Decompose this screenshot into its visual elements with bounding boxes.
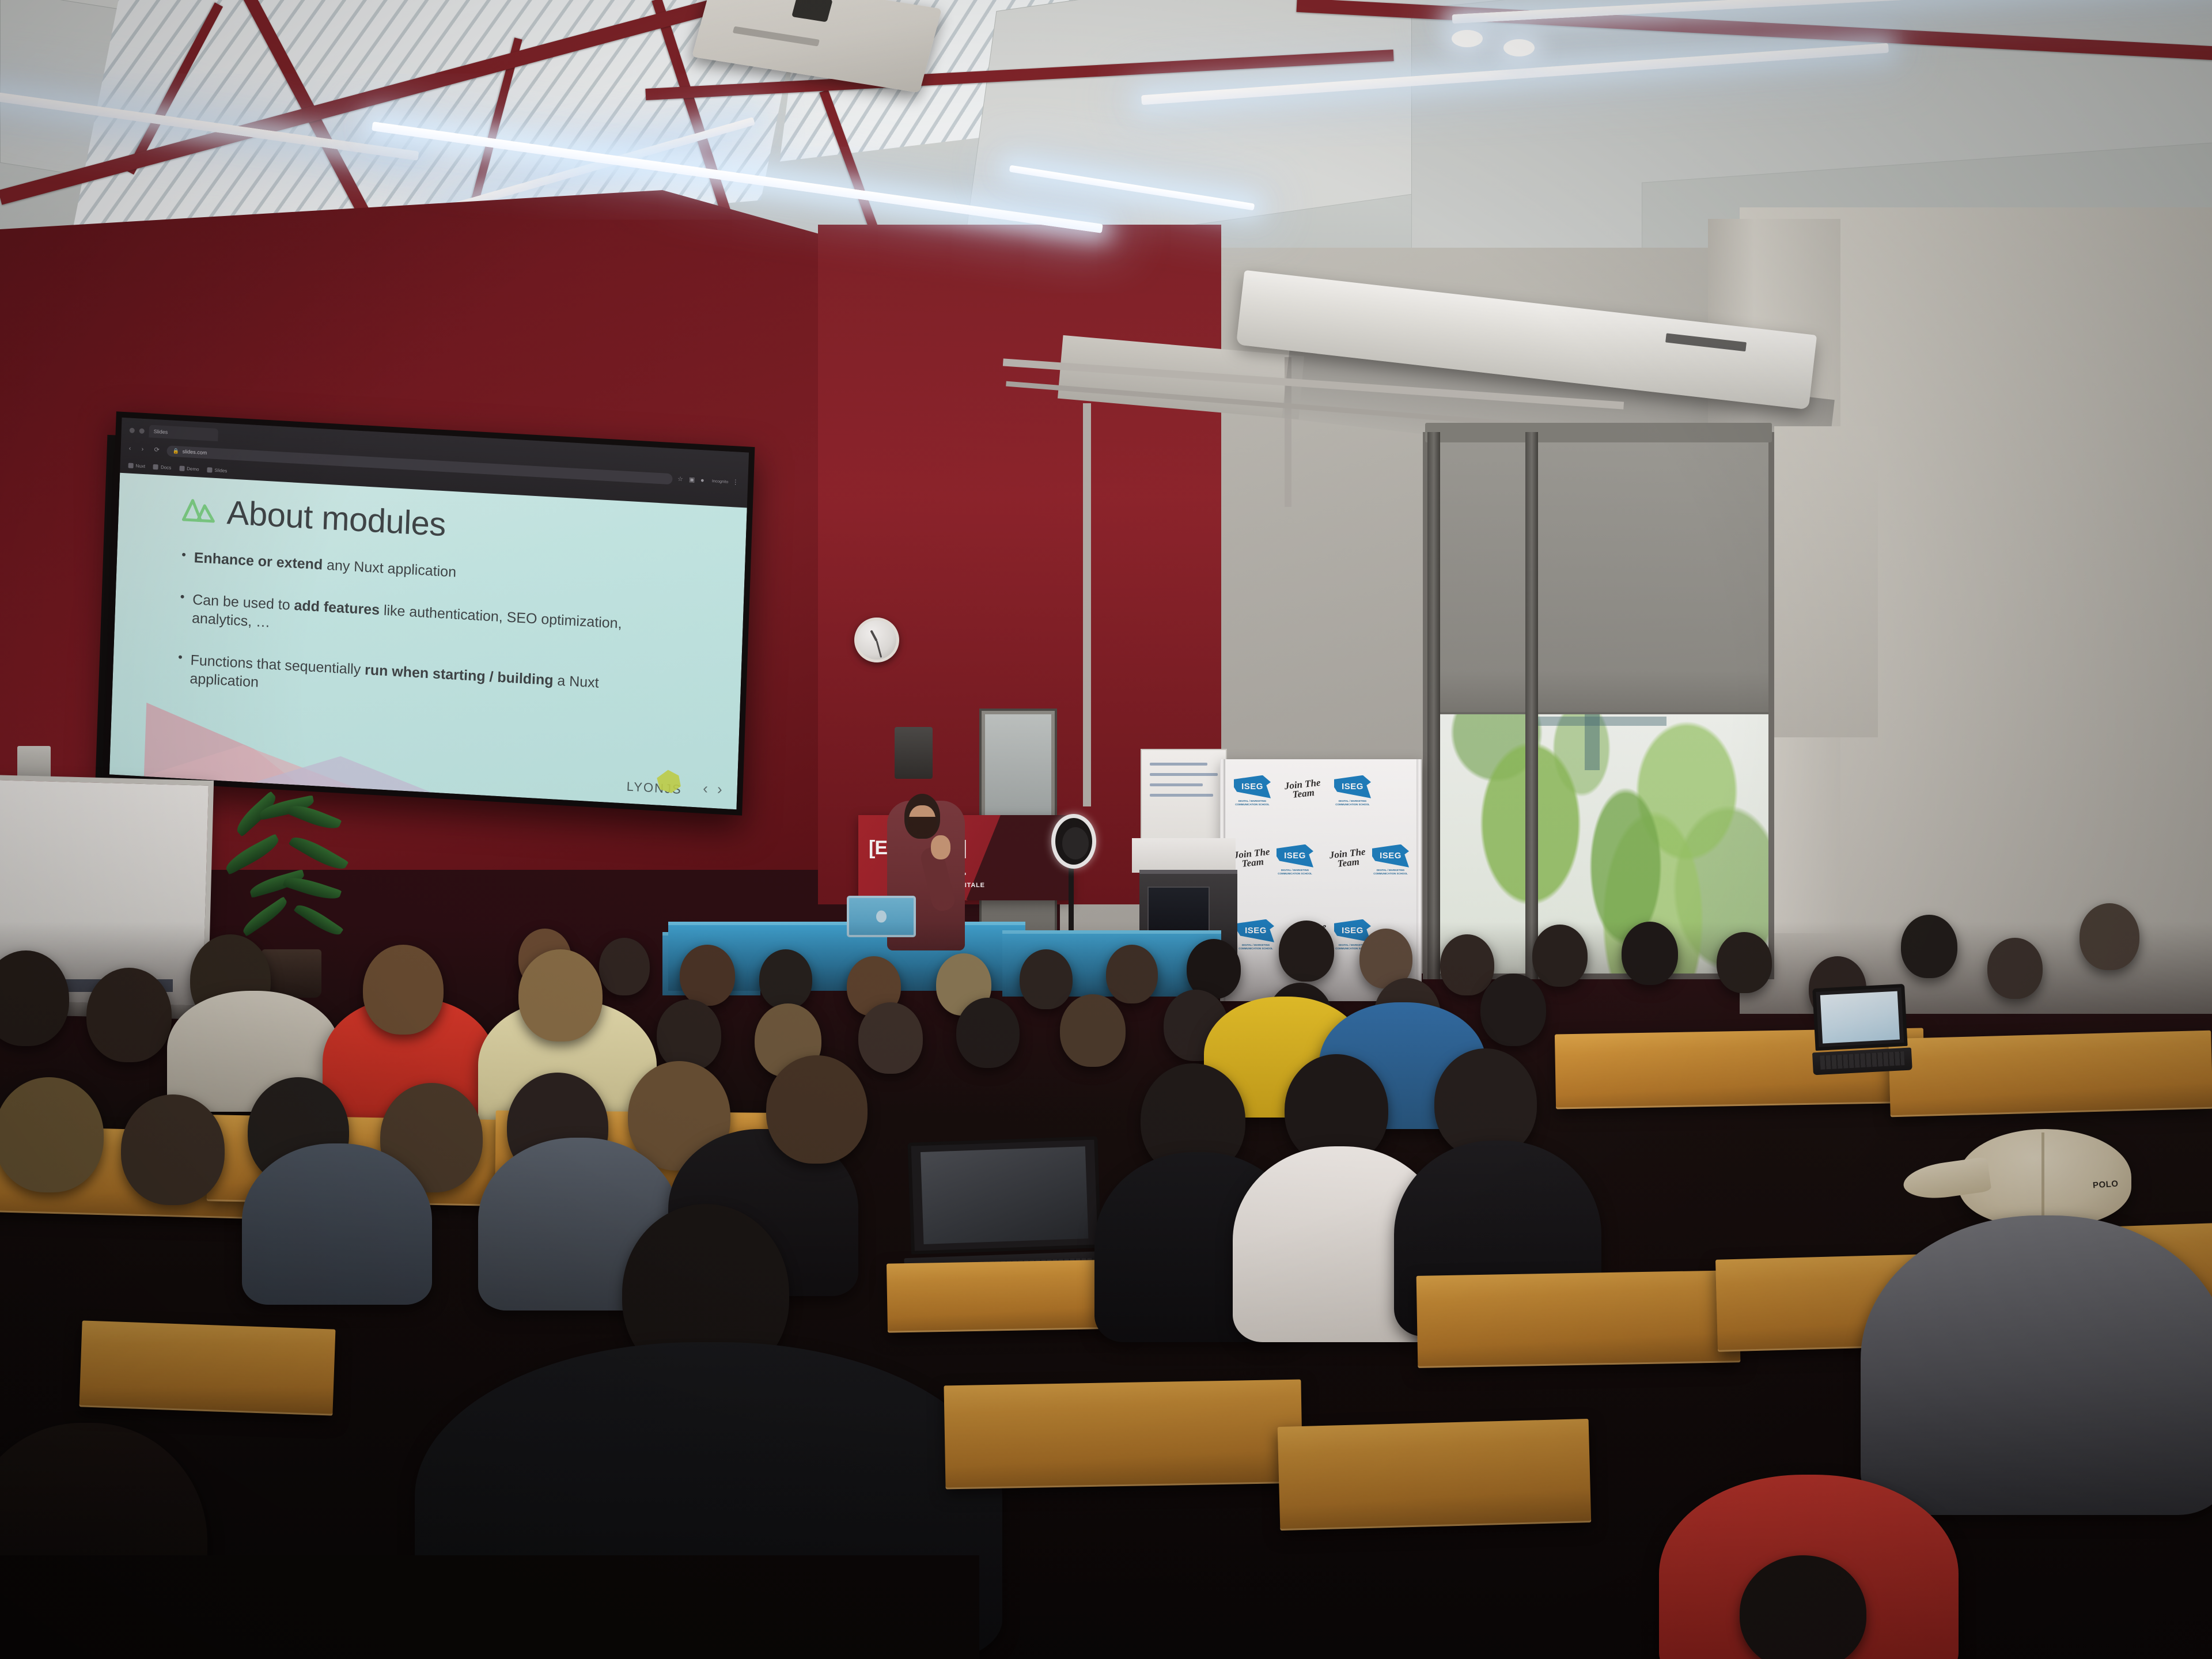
slide-bullet: • Can be used to add features like authe…	[179, 589, 698, 656]
floor-shadow	[0, 1555, 979, 1659]
browser-window: Slides ‹ › ⟳ 🔒 slides.com ☆ ▣ ● Incognit…	[109, 418, 749, 809]
audience-head	[1106, 945, 1158, 1003]
incognito-label: Incognito	[712, 479, 729, 484]
plant-leaf	[283, 873, 342, 904]
window	[1423, 432, 1774, 979]
bullet-text: Can be used to add features like authent…	[192, 590, 630, 652]
bench	[79, 1320, 336, 1415]
audience-head	[1901, 915, 1957, 978]
audience-head	[2080, 903, 2139, 970]
iseg-subtitle: DIGITAL / MARKETING COMMUNICATION SCHOOL	[1270, 869, 1320, 876]
back-arrow-icon[interactable]: ‹	[128, 445, 136, 453]
bullet-rest: any Nuxt application	[323, 557, 457, 581]
roller-blind[interactable]	[1429, 438, 1768, 714]
presenter-hand	[931, 835, 950, 859]
equipment-box	[1132, 838, 1236, 873]
bookmark-icon	[179, 465, 184, 471]
window-control-dot[interactable]	[130, 427, 135, 433]
iseg-brand: ISEG	[1380, 851, 1402, 861]
projection-screen: Slides ‹ › ⟳ 🔒 slides.com ☆ ▣ ● Incognit…	[104, 411, 755, 816]
slide-next-button[interactable]: ›	[717, 780, 722, 798]
audience-head	[858, 1002, 923, 1074]
iseg-subtitle: DIGITAL / MARKETING COMMUNICATION SCHOOL	[1365, 869, 1416, 876]
apple-logo-icon	[876, 911, 887, 923]
audience-head	[1020, 949, 1073, 1009]
bullet-bold: run when starting / building	[365, 661, 554, 688]
iseg-brand: ISEG	[1342, 782, 1363, 791]
audience-head	[363, 945, 444, 1035]
iseg-logo: ISEG DIGITAL / MARKETING COMMUNICATION S…	[1227, 772, 1278, 810]
profile-icon[interactable]: ●	[700, 476, 708, 484]
forward-arrow-icon[interactable]: ›	[141, 445, 149, 453]
wall-box	[17, 746, 51, 778]
laptop-screen	[1820, 991, 1899, 1043]
laptop-screen	[921, 1146, 1089, 1244]
iseg-slogan: Join The Team	[1282, 778, 1325, 801]
audience-head	[1987, 938, 2043, 999]
bullet-dot: •	[177, 650, 183, 687]
plant-leaf	[287, 801, 342, 834]
clock-hour-hand	[870, 630, 877, 642]
spot-light	[1452, 30, 1483, 47]
iseg-logo: ISEG DIGITAL / MARKETING COMMUNICATION S…	[1365, 841, 1416, 879]
projector-vent	[733, 26, 820, 46]
audience-head	[1480, 974, 1546, 1046]
audience-head	[1622, 922, 1678, 985]
iseg-logo: ISEG DIGITAL / MARKETING COMMUNICATION S…	[1327, 772, 1378, 810]
iseg-slogan: Join The Team	[1327, 847, 1370, 870]
audience-head	[657, 999, 721, 1071]
nuxt-logo	[180, 497, 218, 527]
baseball-cap: POLO	[1959, 1129, 2131, 1226]
slide-prev-button[interactable]: ‹	[703, 779, 709, 797]
audience-head	[1440, 934, 1494, 995]
wall-conduit	[1083, 403, 1091, 806]
star-icon[interactable]: ☆	[677, 475, 685, 483]
laptop-keyboard[interactable]	[1820, 1051, 1904, 1070]
audience-head	[759, 949, 812, 1009]
audience-head	[1717, 932, 1772, 993]
plant-leaf	[222, 834, 282, 875]
url-text: slides.com	[183, 449, 207, 456]
bench-front	[944, 1380, 1302, 1490]
clock-minute-hand	[876, 641, 882, 658]
window-mullion	[1427, 432, 1440, 979]
projector-lens	[791, 0, 833, 22]
wall-clock	[854, 618, 899, 662]
presenter-head	[904, 794, 940, 839]
slide-navigation: ‹ ›	[703, 779, 722, 798]
laptop-lid	[1812, 984, 1907, 1051]
bullet-text: Enhance or extend any Nuxt application	[194, 548, 456, 582]
audience-head	[518, 949, 603, 1041]
iseg-mark-icon: ISEG	[1372, 844, 1409, 868]
laptop-lid	[907, 1136, 1101, 1255]
bullet-bold: add features	[294, 597, 380, 618]
plant-leaf	[289, 831, 349, 875]
iseg-mark-icon: ISEG	[1334, 775, 1371, 798]
bookmark-item[interactable]: Slides	[207, 467, 227, 474]
puzzle-icon[interactable]: ▣	[689, 476, 696, 484]
kebab-menu-icon[interactable]: ⋮	[732, 479, 740, 487]
window-control-dot[interactable]	[139, 428, 145, 433]
audience-head	[0, 1077, 104, 1192]
cap-brand-label: POLO	[2093, 1179, 2119, 1190]
iseg-mark-icon: ISEG	[1234, 775, 1271, 798]
bookmark-label: Docs	[161, 464, 172, 470]
presentation-slide: About modules • Enhance or extend any Nu…	[109, 473, 747, 810]
bookmark-item[interactable]: Docs	[153, 464, 172, 470]
ring-light	[1051, 814, 1096, 869]
browser-tab[interactable]: Slides	[149, 425, 218, 441]
audience-laptop[interactable]	[1812, 984, 1909, 1075]
audience-person-front	[1861, 1215, 2212, 1515]
flipchart-line	[1150, 763, 1207, 766]
iseg-brand: ISEG	[1284, 851, 1306, 861]
bookmark-label: Slides	[214, 467, 227, 473]
flipchart	[1141, 749, 1227, 853]
reload-icon[interactable]: ⟳	[154, 446, 161, 454]
flipchart-line	[1150, 783, 1203, 786]
bench-front	[1278, 1419, 1592, 1531]
iseg-slogan: Join The Team	[1231, 847, 1274, 870]
audience-head	[86, 968, 172, 1062]
presenter-beard	[908, 817, 937, 838]
bookmark-icon	[207, 467, 212, 472]
ac-label	[1665, 333, 1747, 351]
audience-head	[1532, 925, 1588, 987]
bookmark-item[interactable]: Demo	[179, 465, 199, 472]
bookmark-label: Demo	[187, 466, 199, 472]
lyonjs-logo: LYONJS	[626, 779, 682, 797]
audience-head	[680, 945, 735, 1006]
bullet-bold: Enhance or extend	[194, 550, 323, 573]
iseg-subtitle: DIGITAL / MARKETING COMMUNICATION SCHOOL	[1327, 800, 1378, 807]
slide-bullet-list: • Enhance or extend any Nuxt application…	[112, 524, 745, 719]
bench	[1416, 1270, 1741, 1368]
lecture-hall-photo: Slides ‹ › ⟳ 🔒 slides.com ☆ ▣ ● Incognit…	[0, 0, 2212, 1659]
audience-person	[242, 1143, 432, 1305]
iseg-logo: ISEG DIGITAL / MARKETING COMMUNICATION S…	[1270, 841, 1320, 879]
audience-head	[121, 1094, 225, 1205]
audience-head	[956, 998, 1020, 1068]
audience-head	[1060, 994, 1126, 1067]
audience-head	[766, 1055, 868, 1164]
wall-panel	[1774, 426, 1878, 737]
bullet-lead: Can be used to	[192, 592, 294, 613]
audience-head	[599, 938, 650, 995]
slide-bullet: • Enhance or extend any Nuxt application	[181, 548, 700, 596]
bookmark-label: Nuxt	[135, 463, 145, 469]
audience-head	[1279, 921, 1334, 982]
iseg-brand: ISEG	[1241, 782, 1263, 791]
bench-desk	[887, 1259, 1130, 1332]
blind-housing	[1425, 423, 1772, 442]
flipchart-line	[1150, 773, 1218, 776]
iseg-subtitle: DIGITAL / MARKETING COMMUNICATION SCHOOL	[1227, 800, 1278, 807]
outdoor-structure	[1531, 717, 1666, 726]
iseg-mark-icon: ISEG	[1277, 844, 1313, 868]
bookmark-icon	[153, 464, 158, 469]
cap-seam	[2041, 1132, 2044, 1219]
bench-back	[1888, 1031, 2212, 1118]
window-mullion	[1525, 432, 1538, 979]
bookmark-icon	[128, 463, 134, 468]
bullet-dot: •	[181, 548, 187, 567]
bullet-dot: •	[179, 589, 185, 627]
lock-icon: 🔒	[172, 448, 179, 454]
flipchart-line	[1150, 794, 1213, 797]
spot-light	[1503, 39, 1535, 56]
ring-light-center	[1062, 827, 1089, 859]
wall-speaker	[895, 727, 933, 779]
bookmark-item[interactable]: Nuxt	[128, 463, 146, 469]
browser-toolbar-right: ☆ ▣ ● Incognito ⋮	[677, 475, 740, 486]
